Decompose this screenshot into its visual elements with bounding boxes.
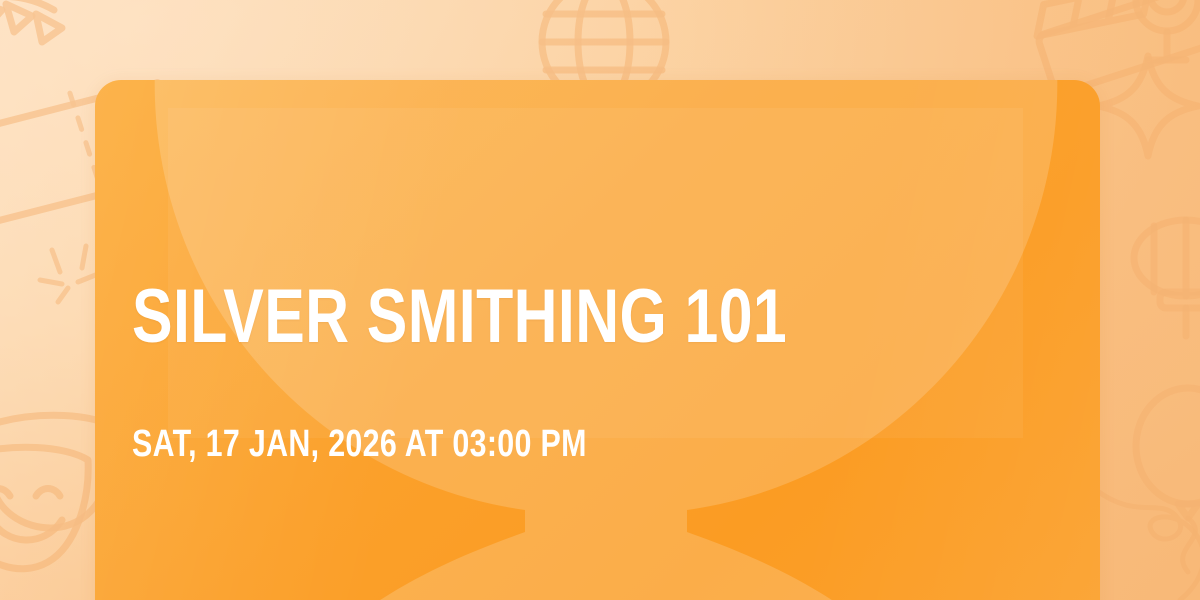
event-title: SILVER SMITHING 101 bbox=[132, 276, 787, 358]
event-card[interactable]: SILVER SMITHING 101 SAT, 17 JAN, 2026 AT… bbox=[95, 80, 1100, 600]
event-banner: SILVER SMITHING 101 SAT, 17 JAN, 2026 AT… bbox=[0, 0, 1200, 600]
lantern-doodle bbox=[1130, 200, 1200, 380]
event-datetime: SAT, 17 JAN, 2026 AT 03:00 PM bbox=[132, 422, 587, 466]
event-text-block: SILVER SMITHING 101 SAT, 17 JAN, 2026 AT… bbox=[132, 80, 1032, 600]
microphone-doodle bbox=[1120, 0, 1200, 80]
streamer-doodle bbox=[1090, 480, 1200, 600]
